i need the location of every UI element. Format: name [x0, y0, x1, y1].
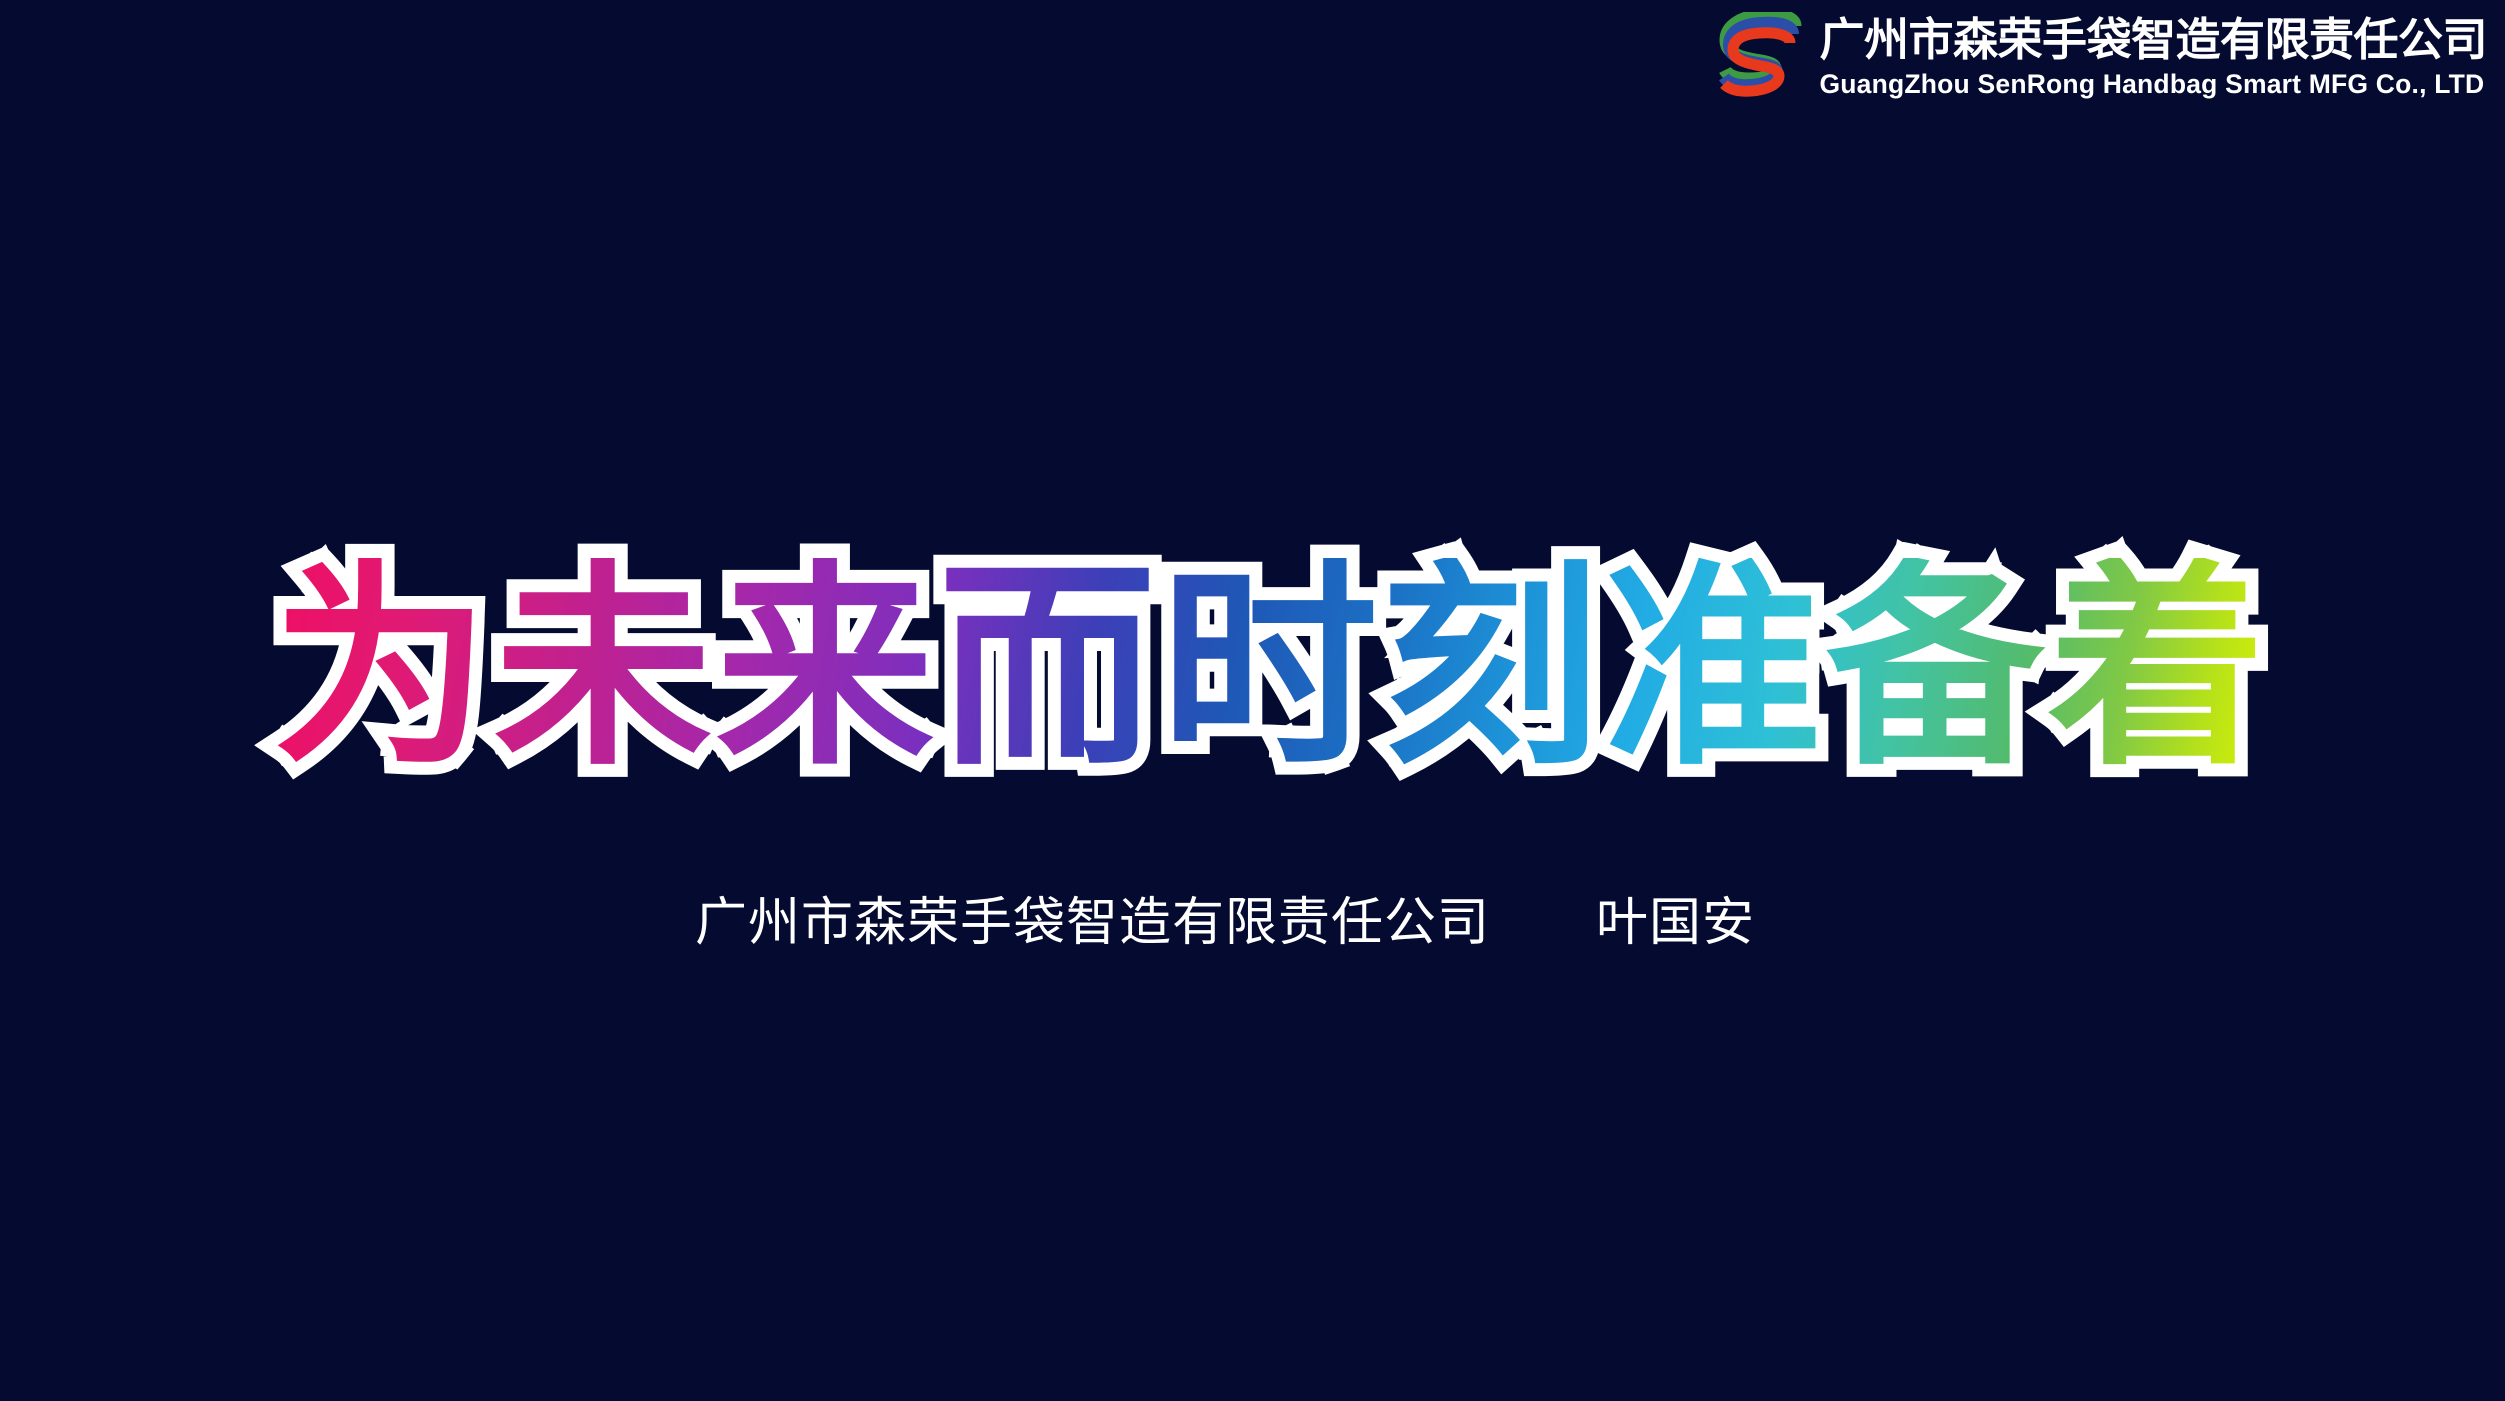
brand-company-name-en: GuangZhou SenRong Handbag Smart MFG Co.,…: [1819, 71, 2484, 98]
headline-container: 为未来而时刻准备着 为未来而时刻准备着: [0, 534, 2505, 804]
s-monogram-striped-logo: [1717, 12, 1805, 102]
brand-company-name-cn: 广州市森荣手袋智造有限责任公司: [1819, 17, 2487, 62]
slide-title-text: 为未来而时刻准备着: [272, 558, 2270, 780]
brand-text-block: 广州市森荣手袋智造有限责任公司 GuangZhou SenRong Handba…: [1819, 17, 2487, 98]
slide-subtitle: 广州市森荣手袋智造有限责任公司 叶国安: [695, 880, 1755, 955]
slide-title: 为未来而时刻准备着 为未来而时刻准备着: [272, 558, 2270, 780]
brand-lockup: 广州市森荣手袋智造有限责任公司 GuangZhou SenRong Handba…: [1717, 12, 2487, 102]
title-slide: 广州市森荣手袋智造有限责任公司 GuangZhou SenRong Handba…: [0, 0, 2505, 1401]
